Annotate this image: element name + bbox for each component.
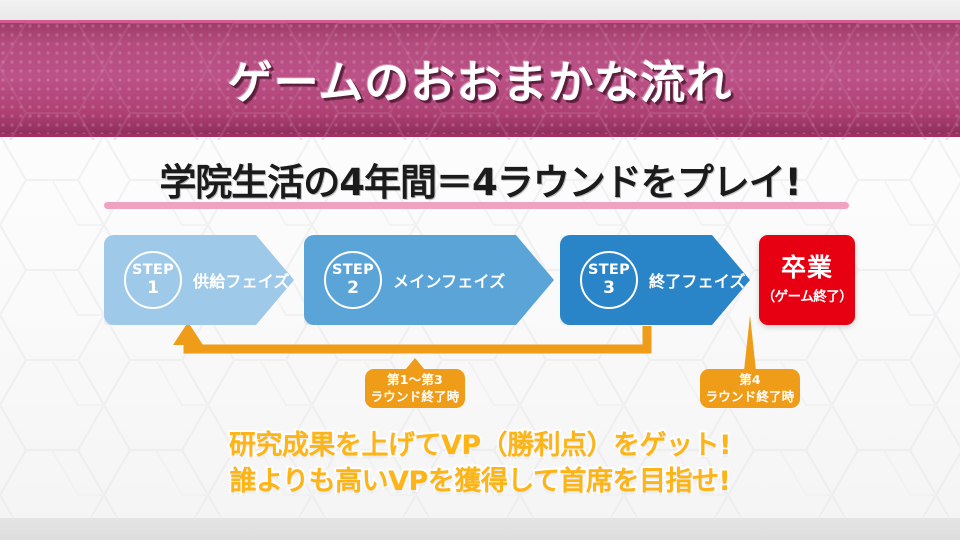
step-1-badge-number: 1	[147, 280, 159, 297]
step-1-badge: STEP 1	[124, 251, 182, 309]
step-2-badge-number: 2	[347, 280, 359, 297]
flow-step-3[interactable]: STEP 3 終了フェイズ	[560, 235, 750, 325]
step-1-badge-top: STEP	[132, 263, 174, 278]
step-3-badge-top: STEP	[588, 263, 630, 278]
graduation-box[interactable]: 卒業 （ゲーム終了）	[759, 235, 855, 325]
callout-round-4: 第4 ラウンド終了時	[700, 369, 800, 408]
step-1-label: 供給フェイズ	[193, 268, 290, 292]
tagline-line-1: 研究成果を上げてVP（勝利点）をゲット!	[0, 428, 960, 464]
callout-2-line-1: 第4	[739, 372, 761, 389]
flow-step-2[interactable]: STEP 2 メインフェイズ	[304, 235, 554, 325]
step-2-label: メインフェイズ	[393, 268, 505, 292]
tagline-line-2: 誰よりも高いVPを獲得して首席を目指せ!	[0, 464, 960, 500]
callout-2-pointer-icon	[744, 315, 756, 371]
step-3-label: 終了フェイズ	[649, 268, 746, 292]
callout-1-line-1: 第1〜第3	[387, 372, 443, 389]
tagline: 研究成果を上げてVP（勝利点）をゲット! 誰よりも高いVPを獲得して首席を目指せ…	[0, 428, 960, 501]
callout-2-line-2: ラウンド終了時	[706, 389, 795, 406]
slide-root: ゲームのおおまかな流れ 学院生活の4年間＝4ラウンドをプレイ! STEP 1 供…	[0, 0, 960, 540]
graduation-subtitle: （ゲーム終了）	[762, 285, 853, 305]
step-3-badge: STEP 3	[580, 251, 638, 309]
step-3-badge-number: 3	[603, 280, 615, 297]
callout-1-line-2: ラウンド終了時	[371, 389, 460, 406]
step-2-badge-top: STEP	[332, 263, 374, 278]
flow-step-1[interactable]: STEP 1 供給フェイズ	[104, 235, 294, 325]
bottom-strip	[0, 518, 960, 540]
step-2-badge: STEP 2	[324, 251, 382, 309]
graduation-title: 卒業	[781, 255, 833, 281]
page-title: ゲームのおおまかな流れ	[228, 46, 733, 111]
callout-rounds-1-3: 第1〜第3 ラウンド終了時	[365, 369, 465, 408]
